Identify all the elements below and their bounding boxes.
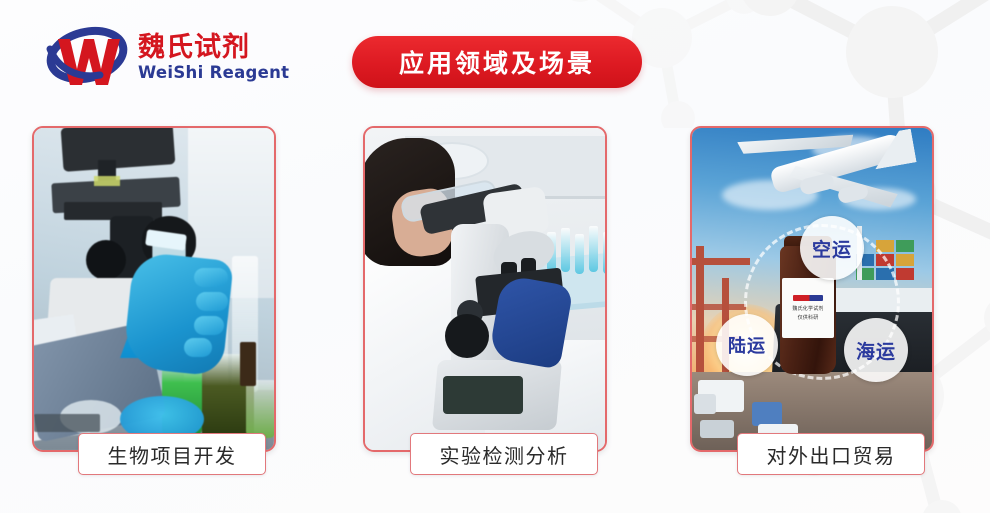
card-caption-lab-testing-analysis: 实验检测分析: [410, 433, 598, 475]
bottle-label-line1: 魏氏化学试剂: [792, 306, 823, 313]
transport-chip-sea-label: 海运: [856, 337, 896, 364]
transport-chip-land-label: 陆运: [728, 332, 766, 358]
brand-logo-text: 魏氏试剂 WeiShi Reagent: [138, 34, 289, 82]
card-caption-foreign-export-trade: 对外出口贸易: [737, 433, 925, 475]
bottle-label-line2: 仅供科研: [798, 315, 819, 322]
transport-chip-air[interactable]: 空运: [800, 216, 864, 280]
brand-logo[interactable]: 魏氏试剂 WeiShi Reagent: [44, 22, 314, 94]
transport-chip-land[interactable]: 陆运: [716, 314, 778, 376]
caption-text: 生物项目开发: [108, 440, 237, 469]
transport-chip-sea[interactable]: 海运: [844, 318, 908, 382]
bottle-label: 魏氏化学试剂 仅供科研: [782, 278, 834, 338]
card-bio-project-development[interactable]: [32, 126, 276, 452]
photo-lab-testing-analysis: [365, 128, 605, 450]
caption-text: 实验检测分析: [440, 440, 569, 469]
photo-foreign-export-trade: 魏氏化学试剂 仅供科研 空运 陆运 海运: [692, 128, 932, 450]
transport-chip-air-label: 空运: [812, 235, 852, 262]
brand-name-en: WeiShi Reagent: [138, 65, 289, 82]
card-foreign-export-trade[interactable]: 魏氏化学试剂 仅供科研 空运 陆运 海运: [690, 126, 934, 452]
poster-canvas: 魏氏试剂 WeiShi Reagent 应用领域及场景: [0, 0, 990, 513]
caption-text: 对外出口贸易: [767, 440, 896, 469]
card-caption-bio-project-development: 生物项目开发: [78, 433, 266, 475]
section-title-banner: 应用领域及场景: [352, 36, 642, 88]
w-swoosh-logo-icon: [44, 25, 130, 91]
bottle-label-logo-icon: [793, 295, 823, 301]
page-title: 应用领域及场景: [399, 44, 595, 80]
card-lab-testing-analysis[interactable]: [363, 126, 607, 452]
brand-name-cn: 魏氏试剂: [138, 34, 289, 61]
photo-bio-project-development: [34, 128, 274, 450]
